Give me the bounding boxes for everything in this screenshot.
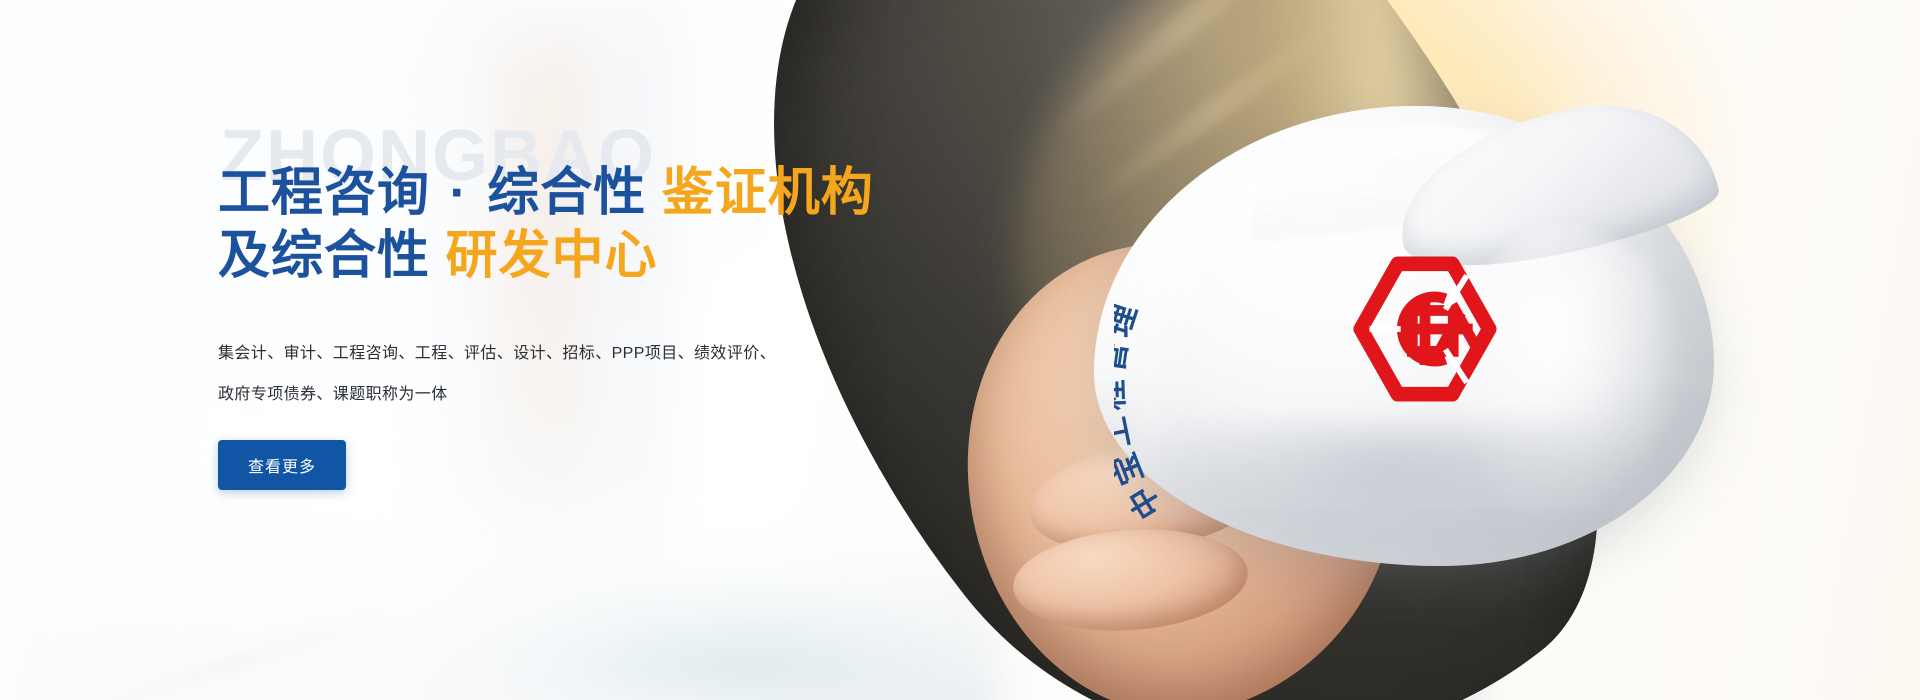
view-more-button[interactable]: 查看更多	[218, 440, 346, 490]
headline-amber-part-b: 研发中心	[445, 227, 657, 285]
helmet-arc-textpath: 中宝工程管理	[1114, 296, 1168, 525]
description-line-2: 政府专项债券、课题职称为一体	[218, 374, 978, 416]
zhongbao-hexagon-logo	[1352, 254, 1498, 404]
page-title: 工程咨询 · 综合性 鉴证机构 及综合性 研发中心	[218, 162, 978, 289]
headline-amber-part-a: 鉴证机构	[662, 164, 874, 222]
headline-line-1: 工程咨询 · 综合性 鉴证机构	[218, 162, 978, 225]
hero-banner: 中宝工程管理	[0, 0, 1920, 700]
white-hard-hat: 中宝工程管理	[1094, 106, 1714, 566]
headline-separator-dot: ·	[445, 164, 471, 222]
helmet-arc-text-label: 中宝工程管理	[1114, 296, 1168, 525]
headline-blue-part-c: 及综合性	[218, 227, 430, 285]
hero-copy: ZHONGBAO 工程咨询 · 综合性 鉴证机构 及综合性 研发中心 集会计、审…	[218, 120, 978, 490]
hero-description: 集会计、审计、工程咨询、工程、评估、设计、招标、PPP项目、绩效评价、 政府专项…	[218, 333, 978, 416]
headline-blue-part-b: 综合性	[487, 164, 646, 222]
headline-line-2: 及综合性 研发中心	[218, 225, 978, 288]
description-line-1: 集会计、审计、工程咨询、工程、评估、设计、招标、PPP项目、绩效评价、	[218, 333, 978, 375]
headline-blue-part-a: 工程咨询	[218, 164, 430, 222]
